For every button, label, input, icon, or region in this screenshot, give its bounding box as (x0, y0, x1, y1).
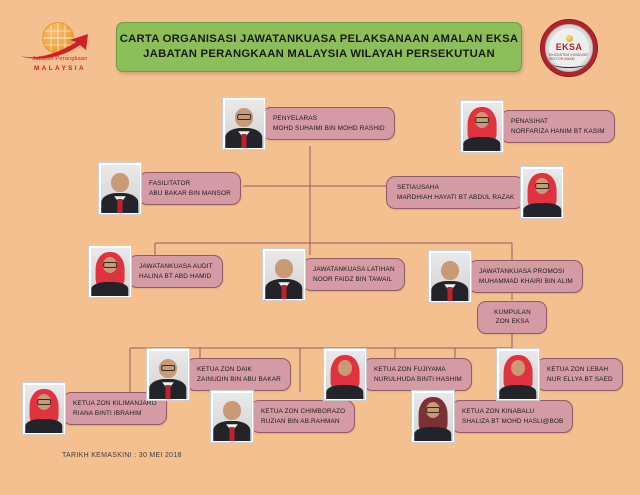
seal-emblem-icon (566, 35, 573, 42)
person-ketua-zon-chimborazo: RUZIAN BIN AB.RAHMAN (261, 417, 345, 426)
node-jawatankuasa-promosi: JAWATANKUASA PROMOSI MUHAMMAD KHAIRI BIN… (428, 250, 583, 303)
photo-fasilitator (98, 162, 142, 215)
person-ketua-zon-kilimanjaro: RIANA BINTI IBRAHIM (73, 409, 157, 418)
person-ketua-zon-fujiyama: NURULHUDA BINTI HASHIM (374, 375, 462, 384)
role-penasihat: PENASIHAT (511, 117, 605, 126)
person-ketua-zon-lebah: NUR ELLYA BT SAED (547, 375, 613, 384)
label-jawatankuasa-audit: JAWATANKUASA AUDIT HALINA BT ABD HAMID (128, 255, 223, 288)
role-ketua-zon-chimborazo: KETUA ZON CHIMBORAZO (261, 407, 345, 416)
label-ketua-zon-kinabalu: KETUA ZON KINABALU SHALIZA BT MOHD HASLI… (451, 400, 573, 433)
node-ketua-zon-kinabalu: KETUA ZON KINABALU SHALIZA BT MOHD HASLI… (411, 390, 573, 443)
org-chart-canvas: Jabatan Perangkaan MALAYSIA CARTA ORGANI… (0, 0, 640, 495)
last-updated-date: TARIKH KEMASKINI : 30 MEI 2018 (62, 452, 182, 459)
role-ketua-zon-fujiyama: KETUA ZON FUJIYAMA (374, 365, 462, 374)
person-penasihat: NORFARIZA HANIM BT KASIM (511, 127, 605, 136)
label-setiausaha: SETIAUSAHA MARDHIAH HAYATI BT ABDUL RAZA… (386, 176, 524, 209)
person-jawatankuasa-audit: HALINA BT ABD HAMID (139, 272, 213, 281)
seal-word: EKSA (556, 43, 583, 52)
role-setiausaha: SETIAUSAHA (397, 183, 514, 192)
jabatan-perangkaan-malaysia-logo: Jabatan Perangkaan MALAYSIA (16, 20, 104, 76)
photo-jawatankuasa-promosi (428, 250, 472, 303)
person-jawatankuasa-promosi: MUHAMMAD KHAIRI BIN ALIM (479, 277, 573, 286)
role-penyelaras: PENYELARAS (273, 114, 385, 123)
person-jawatankuasa-latihan: NOOR FAIDZ BIN TAWAIL (313, 275, 395, 284)
role-ketua-zon-daik: KETUA ZON DAIK (197, 365, 281, 374)
logo-country-text: MALAYSIA (16, 65, 104, 72)
label-penyelaras: PENYELARAS MOHD SUHAIMI BIN MOHD RASHID (262, 107, 395, 140)
photo-setiausaha (520, 166, 564, 219)
person-fasilitator: ABU BAKAR BIN MANSOR (149, 189, 231, 198)
label-kumpulan-zon-eksa: KUMPULAN ZON EKSA (477, 301, 547, 334)
photo-jawatankuasa-audit (88, 245, 132, 298)
role-ketua-zon-lebah: KETUA ZON LEBAH (547, 365, 613, 374)
node-setiausaha: SETIAUSAHA MARDHIAH HAYATI BT ABDUL RAZA… (386, 166, 564, 219)
photo-ketua-zon-kinabalu (411, 390, 455, 443)
photo-ketua-zon-lebah (496, 348, 540, 401)
photo-jawatankuasa-latihan (262, 248, 306, 301)
role-jawatankuasa-promosi: JAWATANKUASA PROMOSI (479, 267, 573, 276)
label-ketua-zon-daik: KETUA ZON DAIK ZAINUDIN BIN ABU BAKAR (186, 358, 291, 391)
chart-title-line-2: JABATAN PERANGKAAN MALAYSIA WILAYAH PERS… (143, 47, 495, 62)
photo-ketua-zon-kilimanjaro (22, 382, 66, 435)
node-penasihat: PENASIHAT NORFARIZA HANIM BT KASIM (460, 100, 615, 153)
chart-title-banner: CARTA ORGANISASI JAWATANKUASA PELAKSANAA… (116, 22, 522, 72)
person-kumpulan: ZON EKSA (488, 317, 537, 326)
person-penyelaras: MOHD SUHAIMI BIN MOHD RASHID (273, 124, 385, 133)
eksa-seal-logo: EKSA EKOSISTEM KONDUSIF SEKTOR AWAM (540, 19, 598, 77)
label-penasihat: PENASIHAT NORFARIZA HANIM BT KASIM (500, 110, 615, 143)
role-kumpulan: KUMPULAN (488, 308, 537, 317)
node-fasilitator: FASILITATOR ABU BAKAR BIN MANSOR (98, 162, 241, 215)
role-fasilitator: FASILITATOR (149, 179, 231, 188)
label-jawatankuasa-promosi: JAWATANKUASA PROMOSI MUHAMMAD KHAIRI BIN… (468, 260, 583, 293)
seal-arc-decor (552, 60, 586, 68)
photo-ketua-zon-chimborazo (210, 390, 254, 443)
logo-department-text: Jabatan Perangkaan (16, 56, 104, 62)
label-jawatankuasa-latihan: JAWATANKUASA LATIHAN NOOR FAIDZ BIN TAWA… (302, 258, 405, 291)
node-penyelaras: PENYELARAS MOHD SUHAIMI BIN MOHD RASHID (222, 97, 395, 150)
photo-ketua-zon-daik (146, 348, 190, 401)
label-ketua-zon-chimborazo: KETUA ZON CHIMBORAZO RUZIAN BIN AB.RAHMA… (250, 400, 355, 433)
label-ketua-zon-lebah: KETUA ZON LEBAH NUR ELLYA BT SAED (536, 358, 623, 391)
role-ketua-zon-kinabalu: KETUA ZON KINABALU (462, 407, 563, 416)
person-ketua-zon-kinabalu: SHALIZA BT MOHD HASLI@BOB (462, 417, 563, 426)
person-ketua-zon-daik: ZAINUDIN BIN ABU BAKAR (197, 375, 281, 384)
role-jawatankuasa-audit: JAWATANKUASA AUDIT (139, 262, 213, 271)
role-jawatankuasa-latihan: JAWATANKUASA LATIHAN (313, 265, 395, 274)
label-ketua-zon-fujiyama: KETUA ZON FUJIYAMA NURULHUDA BINTI HASHI… (363, 358, 472, 391)
node-kumpulan-zon-eksa: KUMPULAN ZON EKSA (477, 301, 547, 334)
photo-penyelaras (222, 97, 266, 150)
photo-ketua-zon-fujiyama (323, 348, 367, 401)
person-setiausaha: MARDHIAH HAYATI BT ABDUL RAZAK (397, 193, 514, 202)
role-ketua-zon-kilimanjaro: KETUA ZON KILIMANJARO (73, 399, 157, 408)
node-jawatankuasa-audit: JAWATANKUASA AUDIT HALINA BT ABD HAMID (88, 245, 223, 298)
label-fasilitator: FASILITATOR ABU BAKAR BIN MANSOR (138, 172, 241, 205)
node-jawatankuasa-latihan: JAWATANKUASA LATIHAN NOOR FAIDZ BIN TAWA… (262, 248, 405, 301)
photo-penasihat (460, 100, 504, 153)
chart-title-line-1: CARTA ORGANISASI JAWATANKUASA PELAKSANAA… (120, 32, 519, 47)
